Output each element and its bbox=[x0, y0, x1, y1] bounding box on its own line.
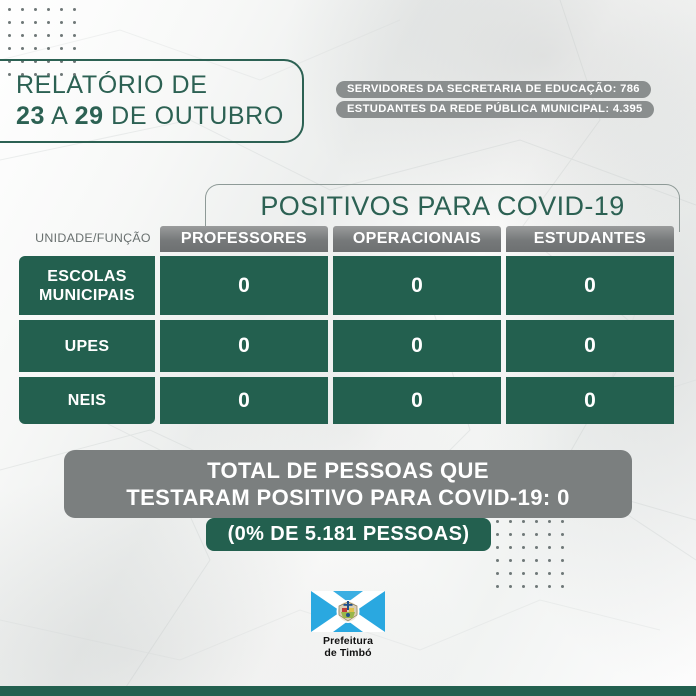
report-title-line2: 23 A 29 DE OUTUBRO bbox=[16, 100, 321, 132]
table-cell-upes-operacionais: 0 bbox=[333, 320, 501, 372]
bottom-accent-bar bbox=[0, 686, 696, 696]
dot-grid-top-left bbox=[8, 8, 88, 64]
logo-line1: Prefeitura bbox=[311, 635, 385, 647]
table-body: ESCOLAS MUNICIPAIS 0 0 0 UPES 0 0 0 NEIS… bbox=[19, 256, 674, 424]
prefeitura-logo: Prefeitura de Timbó bbox=[311, 591, 385, 659]
total-summary-box: TOTAL DE PESSOAS QUE TESTARAM POSITIVO P… bbox=[64, 450, 632, 518]
table-row-label-escolas-municipais: ESCOLAS MUNICIPAIS bbox=[19, 256, 155, 315]
table-cell-escolas-professores: 0 bbox=[160, 256, 328, 315]
report-range-sep: A bbox=[45, 102, 75, 130]
table-row: UPES 0 0 0 bbox=[19, 320, 674, 372]
total-summary-line1: TOTAL DE PESSOAS QUE bbox=[64, 457, 632, 484]
table-column-header-estudantes: ESTUDANTES bbox=[506, 226, 674, 252]
table-column-header-professores: PROFESSORES bbox=[160, 226, 328, 252]
table-cell-escolas-operacionais: 0 bbox=[333, 256, 501, 315]
report-range-start: 23 bbox=[16, 102, 45, 130]
covid-table: PROFESSORES OPERACIONAIS ESTUDANTES ESCO… bbox=[19, 226, 674, 429]
stat-pill-servidores: SERVIDORES DA SECRETARIA DE EDUCAÇÃO: 78… bbox=[336, 81, 651, 98]
report-title: RELATÓRIO DE 23 A 29 DE OUTUBRO bbox=[16, 62, 321, 140]
table-row-label-neis: NEIS bbox=[19, 377, 155, 424]
positives-banner-title: POSITIVOS PARA COVID-19 bbox=[206, 191, 679, 222]
stat-pill-estudantes: ESTUDANTES DA REDE PÚBLICA MUNICIPAL: 4.… bbox=[336, 101, 654, 118]
table-cell-escolas-estudantes: 0 bbox=[506, 256, 674, 315]
logo-line2: de Timbó bbox=[311, 647, 385, 659]
report-title-line1: RELATÓRIO DE bbox=[16, 70, 321, 100]
table-cell-neis-estudantes: 0 bbox=[506, 377, 674, 424]
report-range-month: DE OUTUBRO bbox=[104, 102, 284, 130]
table-cell-upes-professores: 0 bbox=[160, 320, 328, 372]
table-cell-upes-estudantes: 0 bbox=[506, 320, 674, 372]
table-cell-neis-operacionais: 0 bbox=[333, 377, 501, 424]
table-column-header-operacionais: OPERACIONAIS bbox=[333, 226, 501, 252]
table-header-row: PROFESSORES OPERACIONAIS ESTUDANTES bbox=[19, 226, 674, 252]
prefeitura-logo-text: Prefeitura de Timbó bbox=[311, 635, 385, 659]
table-row: ESCOLAS MUNICIPAIS 0 0 0 bbox=[19, 256, 674, 315]
table-row-label-upes: UPES bbox=[19, 320, 155, 372]
timbo-flag-icon bbox=[311, 591, 385, 632]
positives-banner: POSITIVOS PARA COVID-19 bbox=[205, 184, 680, 232]
percent-badge: (0% DE 5.181 PESSOAS) bbox=[206, 518, 491, 551]
table-cell-neis-professores: 0 bbox=[160, 377, 328, 424]
dot-grid-mid-right bbox=[496, 520, 576, 586]
table-row: NEIS 0 0 0 bbox=[19, 377, 674, 424]
report-range-end: 29 bbox=[75, 102, 104, 130]
total-summary-line2: TESTARAM POSITIVO PARA COVID-19: 0 bbox=[64, 484, 632, 511]
